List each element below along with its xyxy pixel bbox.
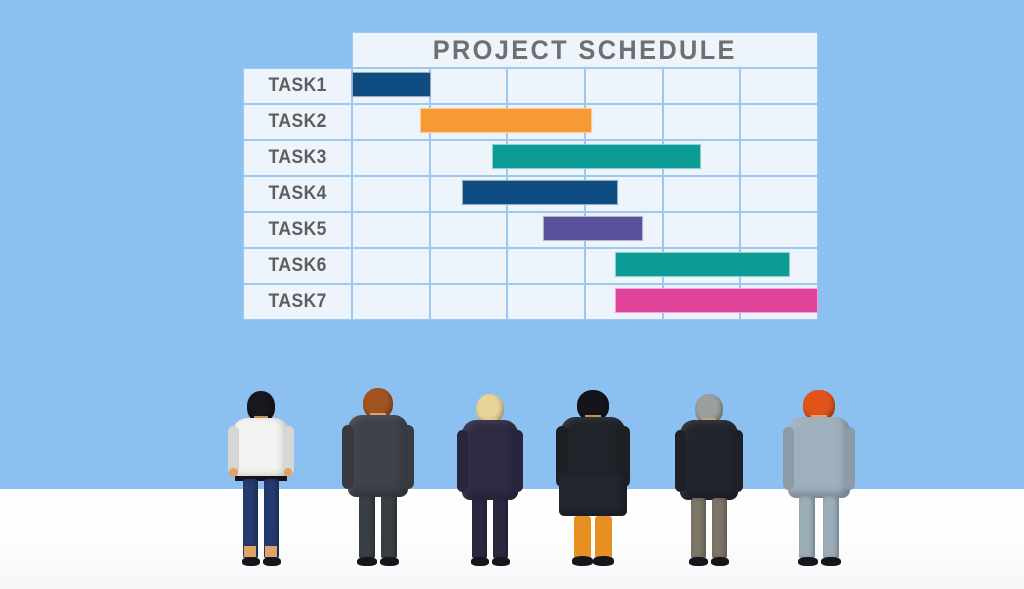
task-label-cell: TASK3 [243,140,352,176]
task-label-cell: TASK7 [243,284,352,320]
grid-cell [430,284,508,320]
task-label: TASK3 [268,147,326,169]
task-track [352,176,818,212]
gantt-bar[interactable] [420,108,592,133]
table-row: TASK2 [243,104,818,140]
figurine-arm-right [844,427,856,490]
table-row: TASK3 [243,140,818,176]
grid-cell [352,284,430,320]
task-track [352,212,818,248]
task-label: TASK2 [268,111,326,133]
task-label: TASK6 [268,255,326,277]
grid-cell [585,68,663,104]
figurine-woman-bob-black-dress [553,390,633,566]
grid-cell [507,284,585,320]
figurine-leg-right [493,498,508,559]
figurine-shoe-left [798,557,818,566]
task-label: TASK1 [268,75,326,97]
task-track [352,104,818,140]
figurine-man-blond-navy-suit [455,394,525,566]
figurine-torso [680,420,738,499]
task-label-cell: TASK1 [243,68,352,104]
title-row-spacer [243,32,352,68]
figurine-man-brown-hair-charcoal-suit [340,388,416,566]
figurine-arm-left [457,430,468,492]
figurine-arm-left [675,430,686,492]
figurine-leg-left [359,495,375,558]
grid-cell [430,68,508,104]
figurine-shoe-right [492,557,510,566]
task-track [352,248,818,284]
figurine-leg-right [381,495,397,558]
figurine-leg-right [823,496,839,558]
figurine-ankle-left [244,546,256,557]
figurine-shoe-left [471,557,489,566]
grid-cell [430,212,508,248]
grid-cell [352,140,430,176]
figurine-woman-dark-hair-white-blouse [226,391,296,566]
figurine-leg-left [472,498,487,559]
grid-cell [585,104,663,140]
figurine-shoe-left [242,557,260,566]
task-track [352,140,818,176]
grid-cell [740,176,818,212]
task-label: TASK5 [268,219,326,241]
table-row: TASK6 [243,248,818,284]
figurine-shoe-right [263,557,281,566]
task-label-cell: TASK5 [243,212,352,248]
table-row: TASK7 [243,284,818,320]
grid-cell [352,104,430,140]
gantt-bar[interactable] [492,144,702,169]
figurine-leg-right [595,516,612,558]
figurine-shoe-right [380,557,399,566]
figurine-torso [348,415,409,497]
grid-cell [740,104,818,140]
figurine-torso [788,417,850,498]
figurine-arm-left [228,426,239,475]
board-title-row: PROJECT SCHEDULE [243,32,818,68]
figurine-arm-right [402,425,413,489]
photo-scene: PROJECT SCHEDULE TASK1TASK2TASK3TASK4TAS… [0,0,1024,589]
task-label-cell: TASK2 [243,104,352,140]
figurine-leg-left [799,496,815,558]
figurine-leg-right [712,498,727,559]
grid-cell [430,248,508,284]
project-schedule-board: PROJECT SCHEDULE TASK1TASK2TASK3TASK4TAS… [243,32,818,330]
gantt-bar[interactable] [462,180,618,205]
task-label: TASK4 [268,183,326,205]
grid-cell [740,140,818,176]
task-rows: TASK1TASK2TASK3TASK4TASK5TASK6TASK7 [243,68,818,320]
table-row: TASK4 [243,176,818,212]
task-label-cell: TASK4 [243,176,352,212]
figurine-man-grey-hair-dark-jacket [673,394,745,566]
figurine-man-red-hair-light-grey-suit [780,390,858,566]
page-title: PROJECT SCHEDULE [433,35,737,66]
figurine-shoe-right [711,557,729,566]
grid-cell [740,68,818,104]
table-row: TASK5 [243,212,818,248]
grid-cell [352,248,430,284]
figurine-shoe-left [689,557,707,566]
table-row: TASK1 [243,68,818,104]
figurine-torso [233,418,289,481]
figurine-arm-right [283,426,294,475]
grid-cell [352,212,430,248]
figurine-shoe-left [572,556,593,566]
task-track [352,68,818,104]
figurine-ankle-right [265,546,277,557]
grid-cell [663,68,741,104]
figurine-arm-right [732,430,743,492]
figurine-shoe-right [593,556,614,566]
task-track [352,284,818,320]
gantt-bar[interactable] [615,288,818,313]
board-title-cell: PROJECT SCHEDULE [352,32,818,68]
task-label: TASK7 [268,291,326,313]
grid-cell [663,176,741,212]
figurine-leg-left [691,498,706,559]
grid-cell [663,104,741,140]
figurine-arm-left [783,427,795,490]
gantt-bar[interactable] [615,252,790,277]
figurine-leg-left [574,516,591,558]
gantt-bar[interactable] [543,216,643,241]
figurine-shoe-right [821,557,841,566]
figurine-shoe-left [357,557,376,566]
grid-cell [507,68,585,104]
task-label-cell: TASK6 [243,248,352,284]
grid-cell [663,212,741,248]
figurine-torso [462,420,518,499]
figurine-skirt [559,473,627,515]
grid-cell [740,212,818,248]
figurine-arm-left [342,425,353,489]
figurine-arm-right [512,430,523,492]
grid-cell [507,248,585,284]
gantt-bar[interactable] [352,72,431,97]
grid-cell [352,176,430,212]
